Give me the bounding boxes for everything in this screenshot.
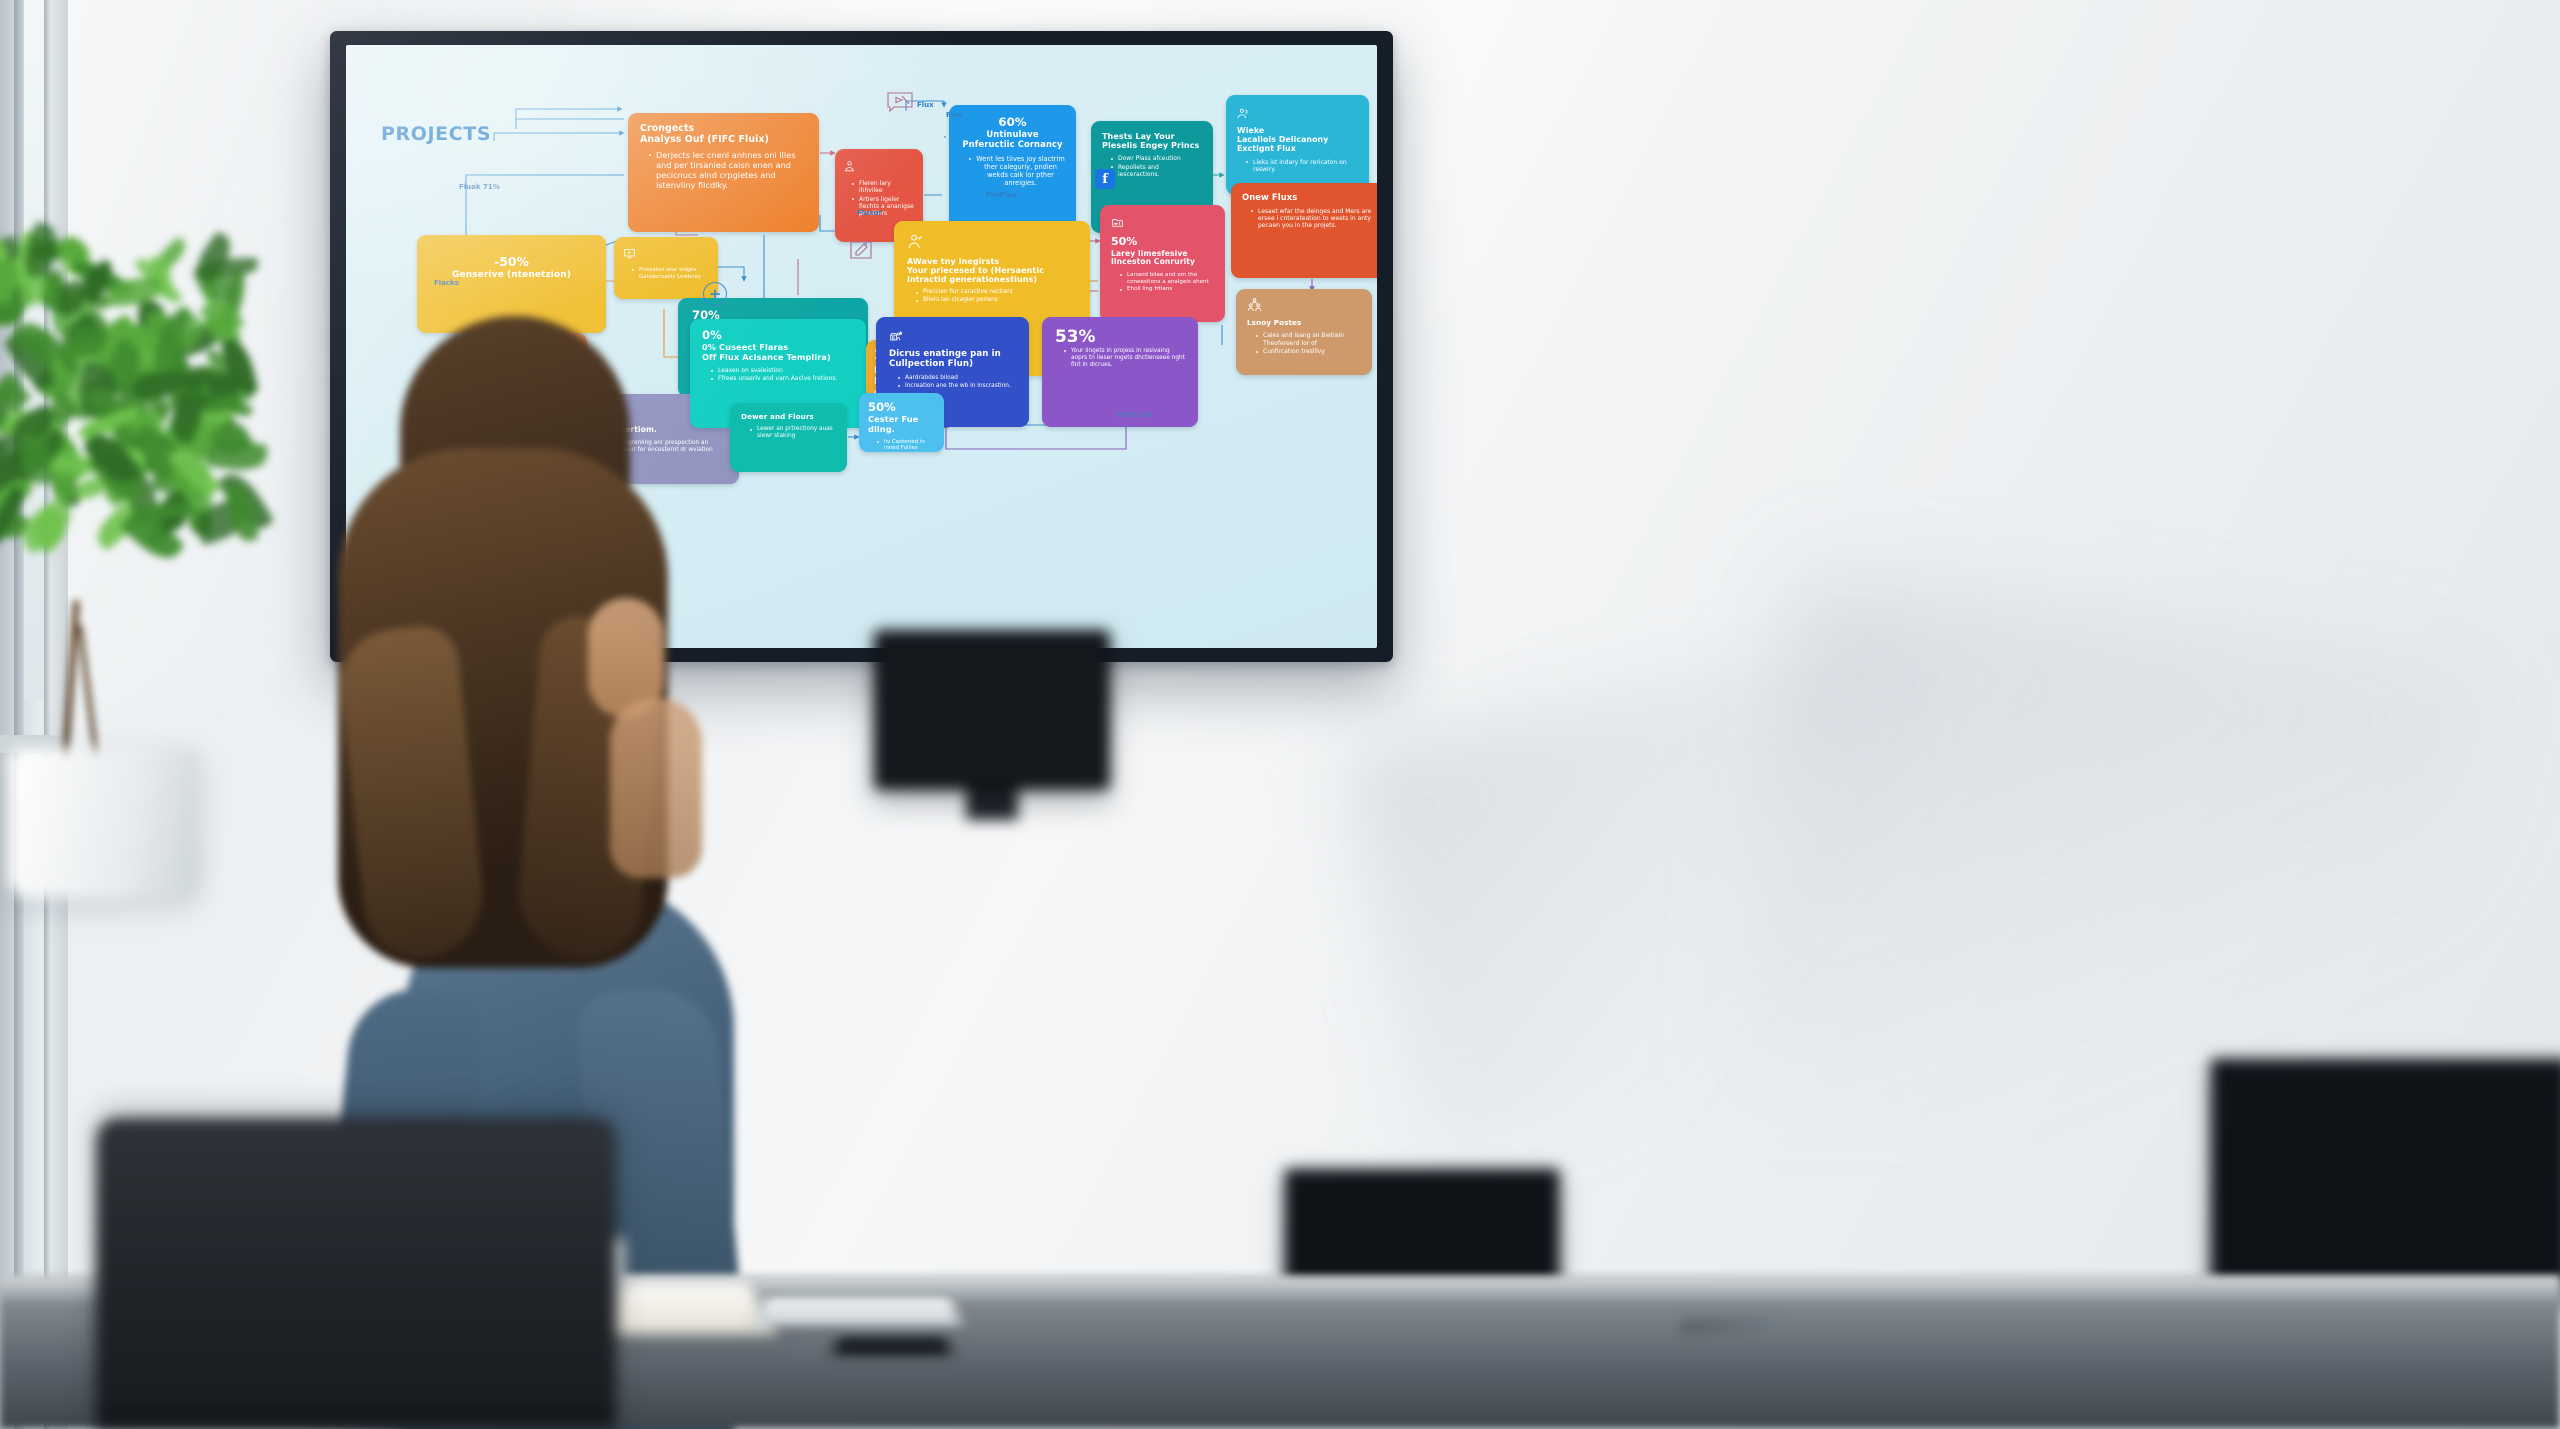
- node-bullet-list: Derjects lec cnenl anhnes oni llles and …: [640, 150, 807, 190]
- node-bullet: Aardrabdes biload: [898, 375, 1016, 382]
- node-bullet: Cunfircation treslilvy: [1256, 348, 1361, 355]
- notebook: [755, 1298, 962, 1326]
- chair-slat: [96, 1187, 616, 1193]
- potted-plant: [0, 232, 300, 792]
- office-scene: PROJECTSCrongects Analyss Ouf (FIFC Flui…: [0, 0, 2560, 1429]
- chair-slat: [96, 1391, 616, 1397]
- group-icon: [1247, 297, 1262, 312]
- chair-slat: [96, 1357, 616, 1363]
- diagram-node-wieke-lacallois[interactable]: Wieke Lacallois Delicanony Exctignt Flux…: [1226, 95, 1369, 195]
- node-bullet: Prievaton atur snlges Gansecrvaliiy Lewb…: [632, 267, 709, 280]
- node-bullet: Your lingets in projess in resivaing aop…: [1064, 348, 1185, 369]
- node-bullet: Lesaet wfar the deinges and Mers are ers…: [1251, 208, 1376, 230]
- edge-label-flacks: Flacks: [434, 279, 459, 287]
- node-icon-wrap: [623, 245, 709, 264]
- node-title: AWave tny inegirsts Your priecesed to (H…: [907, 257, 1077, 284]
- edge-label-fluxor: Fluxor: [857, 209, 882, 217]
- node-stat: 50%: [868, 401, 935, 413]
- facebook-badge[interactable]: f: [1095, 169, 1115, 189]
- chair-slat: [96, 1221, 616, 1227]
- node-bullet: Repoliets and iesceractions.: [1111, 164, 1202, 179]
- edge-label-flux-1: Flux: [917, 101, 934, 109]
- chair-slat: [96, 1255, 616, 1261]
- node-bullet: Fleren lary ihhvilee: [852, 180, 915, 195]
- node-bullet-list: Larserd bilae and om the coneestions a a…: [1111, 272, 1214, 293]
- node-title: Lsnoy Postes: [1247, 319, 1361, 327]
- node-title: Cester Fue dling.: [868, 415, 935, 434]
- plant-pot: [8, 748, 200, 898]
- node-bullet: Ffrees unserlv and varn Aaclve fretions.: [711, 375, 854, 382]
- chair-slat: [96, 1153, 616, 1159]
- node-bullet: Preccien flur caractive nectiers: [916, 289, 1077, 296]
- person-icon: [843, 160, 856, 173]
- node-bullet-list: Lesaet wfar the deinges and Mers are ers…: [1242, 208, 1376, 230]
- node-bullet-list: Went les tiives joy slactrim ther calegu…: [960, 155, 1065, 187]
- node-bullet: liv Caoteried in inned Foliies: [877, 439, 935, 452]
- node-bullet-list: Caies and isang sn Bietiain Theofereerd …: [1247, 332, 1361, 355]
- chair-slat: [96, 1136, 616, 1142]
- node-title: Dewer and Flours: [741, 413, 836, 421]
- node-icon-wrap: [843, 158, 915, 177]
- node-bullet-list: Lewer an prtrectiony auas slewr staking: [741, 426, 836, 440]
- chair-slat: [96, 1306, 616, 1312]
- chair-slat: [96, 1170, 616, 1176]
- node-bullet: Went les tiives joy slactrim ther calegu…: [969, 155, 1065, 187]
- node-stat: 50%: [1111, 236, 1214, 248]
- edge-label-ferch-uk: Ferch Uk: [1117, 411, 1152, 419]
- node-bullet-list: Aardrabdes biloadIncreation ane the wb i…: [889, 375, 1016, 390]
- chair-slat: [96, 1204, 616, 1210]
- chair-slat: [96, 1238, 616, 1244]
- presentation-icon: [623, 247, 636, 260]
- node-stat: 60%: [960, 116, 1065, 128]
- node-bullet: Derjects lec cnenl anhnes oni llles and …: [649, 150, 807, 190]
- monitor-screen: [882, 638, 1102, 782]
- node-bullet-list: liv Caoteried in inned Foliies: [868, 439, 935, 452]
- node-icon-wrap: [1237, 105, 1358, 124]
- user-check-icon: [907, 233, 924, 250]
- node-bullet: Lewer an prtrectiony auas slewr staking: [750, 426, 836, 440]
- edge-label-flux-4: Flux: [986, 191, 1003, 199]
- node-title: Wieke Lacallois Delicanony Exctignt Flux: [1237, 127, 1358, 154]
- diagram-node-onew-fluxs[interactable]: Onew FluxsLesaet wfar the deinges and Me…: [1231, 183, 1377, 278]
- office-chair: [96, 1118, 616, 1429]
- node-title: Crongects Analyss Ouf (FIFC Fluix): [640, 124, 807, 145]
- connector: [516, 119, 624, 129]
- node-bullet: Dowr Plass afceution: [1111, 155, 1202, 162]
- node-title: Dicrus enatinge pan in Cullpection Flun): [889, 350, 1016, 370]
- node-icon-wrap: [1247, 297, 1361, 316]
- diagram-node-larey-limesfesive[interactable]: 50%Larey limesfesive Ilnceston Conrurity…: [1100, 205, 1225, 322]
- node-bullet-list: Dowr Plass afceutionRepoliets and iescer…: [1102, 155, 1202, 178]
- laptop-far-right-lid: [2210, 1058, 2560, 1288]
- node-icon-wrap: [889, 328, 1016, 347]
- chair-slat: [96, 1340, 616, 1346]
- chair-slat: [96, 1272, 616, 1278]
- node-stat: 53%: [1055, 328, 1185, 346]
- laptop-far-right-screen: [2215, 1063, 2560, 1283]
- node-bullet-list: Preccien flur caractive nectiersBliers l…: [907, 289, 1077, 304]
- store-people-icon: [889, 330, 902, 343]
- diagram-node-dewer-and-flours[interactable]: Dewer and FloursLewer an prtrectiony aua…: [730, 403, 847, 472]
- node-stat: 0%: [702, 329, 854, 341]
- diagram-node-prievaton-atur[interactable]: Prievaton atur snlges Gansecrvaliiy Lewb…: [614, 237, 718, 299]
- smartphone: [834, 1336, 951, 1354]
- connector: [718, 267, 744, 281]
- node-icon-wrap: [1111, 214, 1214, 233]
- node-bullet-list: Prievaton atur snlges Gansecrvaliiy Lewb…: [623, 267, 709, 280]
- chair-slat: [96, 1323, 616, 1329]
- users-icon: [1237, 107, 1250, 120]
- node-title: 0% Cuseect Flaras Off Flux Acisance Temp…: [702, 343, 854, 362]
- chair-slat: [96, 1289, 616, 1295]
- raised-hand: [610, 698, 702, 878]
- node-title: Untinulave Pnfeructiic Cornancy: [960, 130, 1065, 149]
- node-stat: -50%: [429, 255, 594, 268]
- node-bullet: Bliers lan cicagier periens: [916, 297, 1077, 304]
- node-bullet: Leaxen on svaleistion: [711, 367, 854, 374]
- node-title: Thests Lay Your Pleselis Engey Princs: [1102, 132, 1202, 150]
- edge-label-flux-2: Flux: [946, 111, 963, 119]
- node-bullet: Lieks ist indary for rericaton on reswir…: [1246, 159, 1358, 174]
- node-bullet: Larserd bilae and om the coneestions a a…: [1120, 272, 1214, 286]
- diagram-node-lsnoy-postes[interactable]: Lsnoy PostesCaies and isang sn Bietiain …: [1236, 289, 1372, 375]
- note-edit-icon[interactable]: [849, 240, 873, 260]
- diagram-node-cester-fue-dling[interactable]: 50%Cester Fue dling.liv Caoteried in inn…: [859, 393, 944, 452]
- video-message-icon[interactable]: [886, 91, 914, 113]
- node-bullet-list: Your lingets in projess in resivaing aop…: [1055, 348, 1185, 369]
- node-bullet-list: Lieks ist indary for rericaton on reswir…: [1237, 159, 1358, 174]
- connector: [494, 133, 624, 141]
- edge-label-fluak-71: Fluak 71%: [459, 183, 500, 191]
- node-icon-wrap: [907, 233, 1077, 254]
- node-title: Larey limesfesive Ilnceston Conrurity: [1111, 250, 1214, 267]
- connector: [516, 109, 622, 119]
- diagram-node-crongects-analyss[interactable]: Crongects Analyss Ouf (FIFC Fluix)Derjec…: [628, 113, 819, 232]
- node-bullet: Eholi ling frtlans: [1120, 286, 1214, 293]
- page-title: PROJECTS: [381, 123, 491, 145]
- chair-slat: [96, 1374, 616, 1380]
- monitor-stand: [966, 790, 1018, 820]
- desktop-monitor: [874, 630, 1110, 790]
- node-title: Onew Fluxs: [1242, 193, 1376, 203]
- node-bullet: Increation ane the wb in inscrastinn.: [898, 383, 1016, 390]
- folder-icon: [1111, 216, 1124, 229]
- node-bullet-list: Leaxen on svaleistionFfrees unserlv and …: [702, 367, 854, 383]
- node-bullet: Caies and isang sn Bietiain Theofereerd …: [1256, 332, 1361, 347]
